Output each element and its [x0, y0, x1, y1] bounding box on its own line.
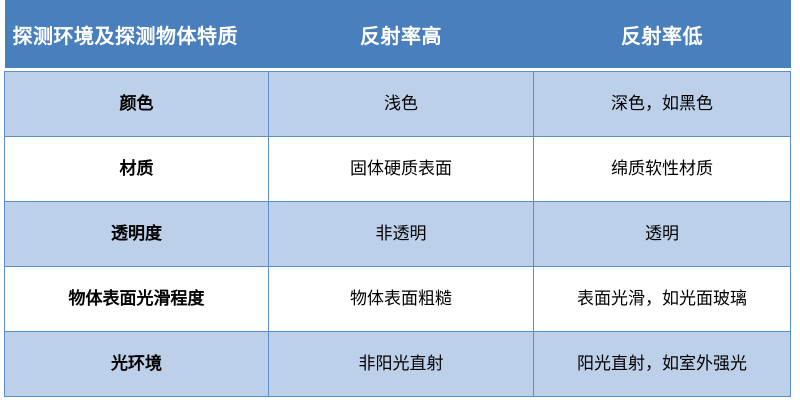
- header-cell-low-reflectivity: 反射率低: [534, 0, 791, 68]
- header-cell-high-reflectivity: 反射率高: [269, 0, 534, 68]
- table-header: 探测环境及探测物体特质 反射率高 反射率低: [5, 0, 791, 68]
- table-row: 材质 固体硬质表面 绵质软性材质: [5, 137, 791, 202]
- row-value-low: 深色，如黑色: [534, 72, 791, 137]
- row-label: 物体表面光滑程度: [5, 267, 269, 332]
- comparison-table-container: 探测环境及探测物体特质 反射率高 反射率低 颜色 浅色 深色，如黑色 材质 固体…: [4, 0, 790, 397]
- row-value-high: 非透明: [269, 202, 534, 267]
- header-cell-attribute: 探测环境及探测物体特质: [5, 0, 269, 68]
- row-value-high: 固体硬质表面: [269, 137, 534, 202]
- row-label: 透明度: [5, 202, 269, 267]
- reflectivity-comparison-table: 探测环境及探测物体特质 反射率高 反射率低 颜色 浅色 深色，如黑色 材质 固体…: [4, 0, 791, 397]
- row-label: 光环境: [5, 332, 269, 397]
- row-value-low: 表面光滑，如光面玻璃: [534, 267, 791, 332]
- row-value-high: 浅色: [269, 72, 534, 137]
- table-row: 透明度 非透明 透明: [5, 202, 791, 267]
- header-row: 探测环境及探测物体特质 反射率高 反射率低: [5, 0, 791, 68]
- row-value-high: 物体表面粗糙: [269, 267, 534, 332]
- row-value-high: 非阳光直射: [269, 332, 534, 397]
- row-label: 颜色: [5, 72, 269, 137]
- row-value-low: 阳光直射，如室外强光: [534, 332, 791, 397]
- row-value-low: 绵质软性材质: [534, 137, 791, 202]
- table-row: 光环境 非阳光直射 阳光直射，如室外强光: [5, 332, 791, 397]
- table-body: 颜色 浅色 深色，如黑色 材质 固体硬质表面 绵质软性材质 透明度 非透明 透明…: [5, 68, 791, 397]
- table-row: 颜色 浅色 深色，如黑色: [5, 72, 791, 137]
- row-label: 材质: [5, 137, 269, 202]
- row-value-low: 透明: [534, 202, 791, 267]
- table-row: 物体表面光滑程度 物体表面粗糙 表面光滑，如光面玻璃: [5, 267, 791, 332]
